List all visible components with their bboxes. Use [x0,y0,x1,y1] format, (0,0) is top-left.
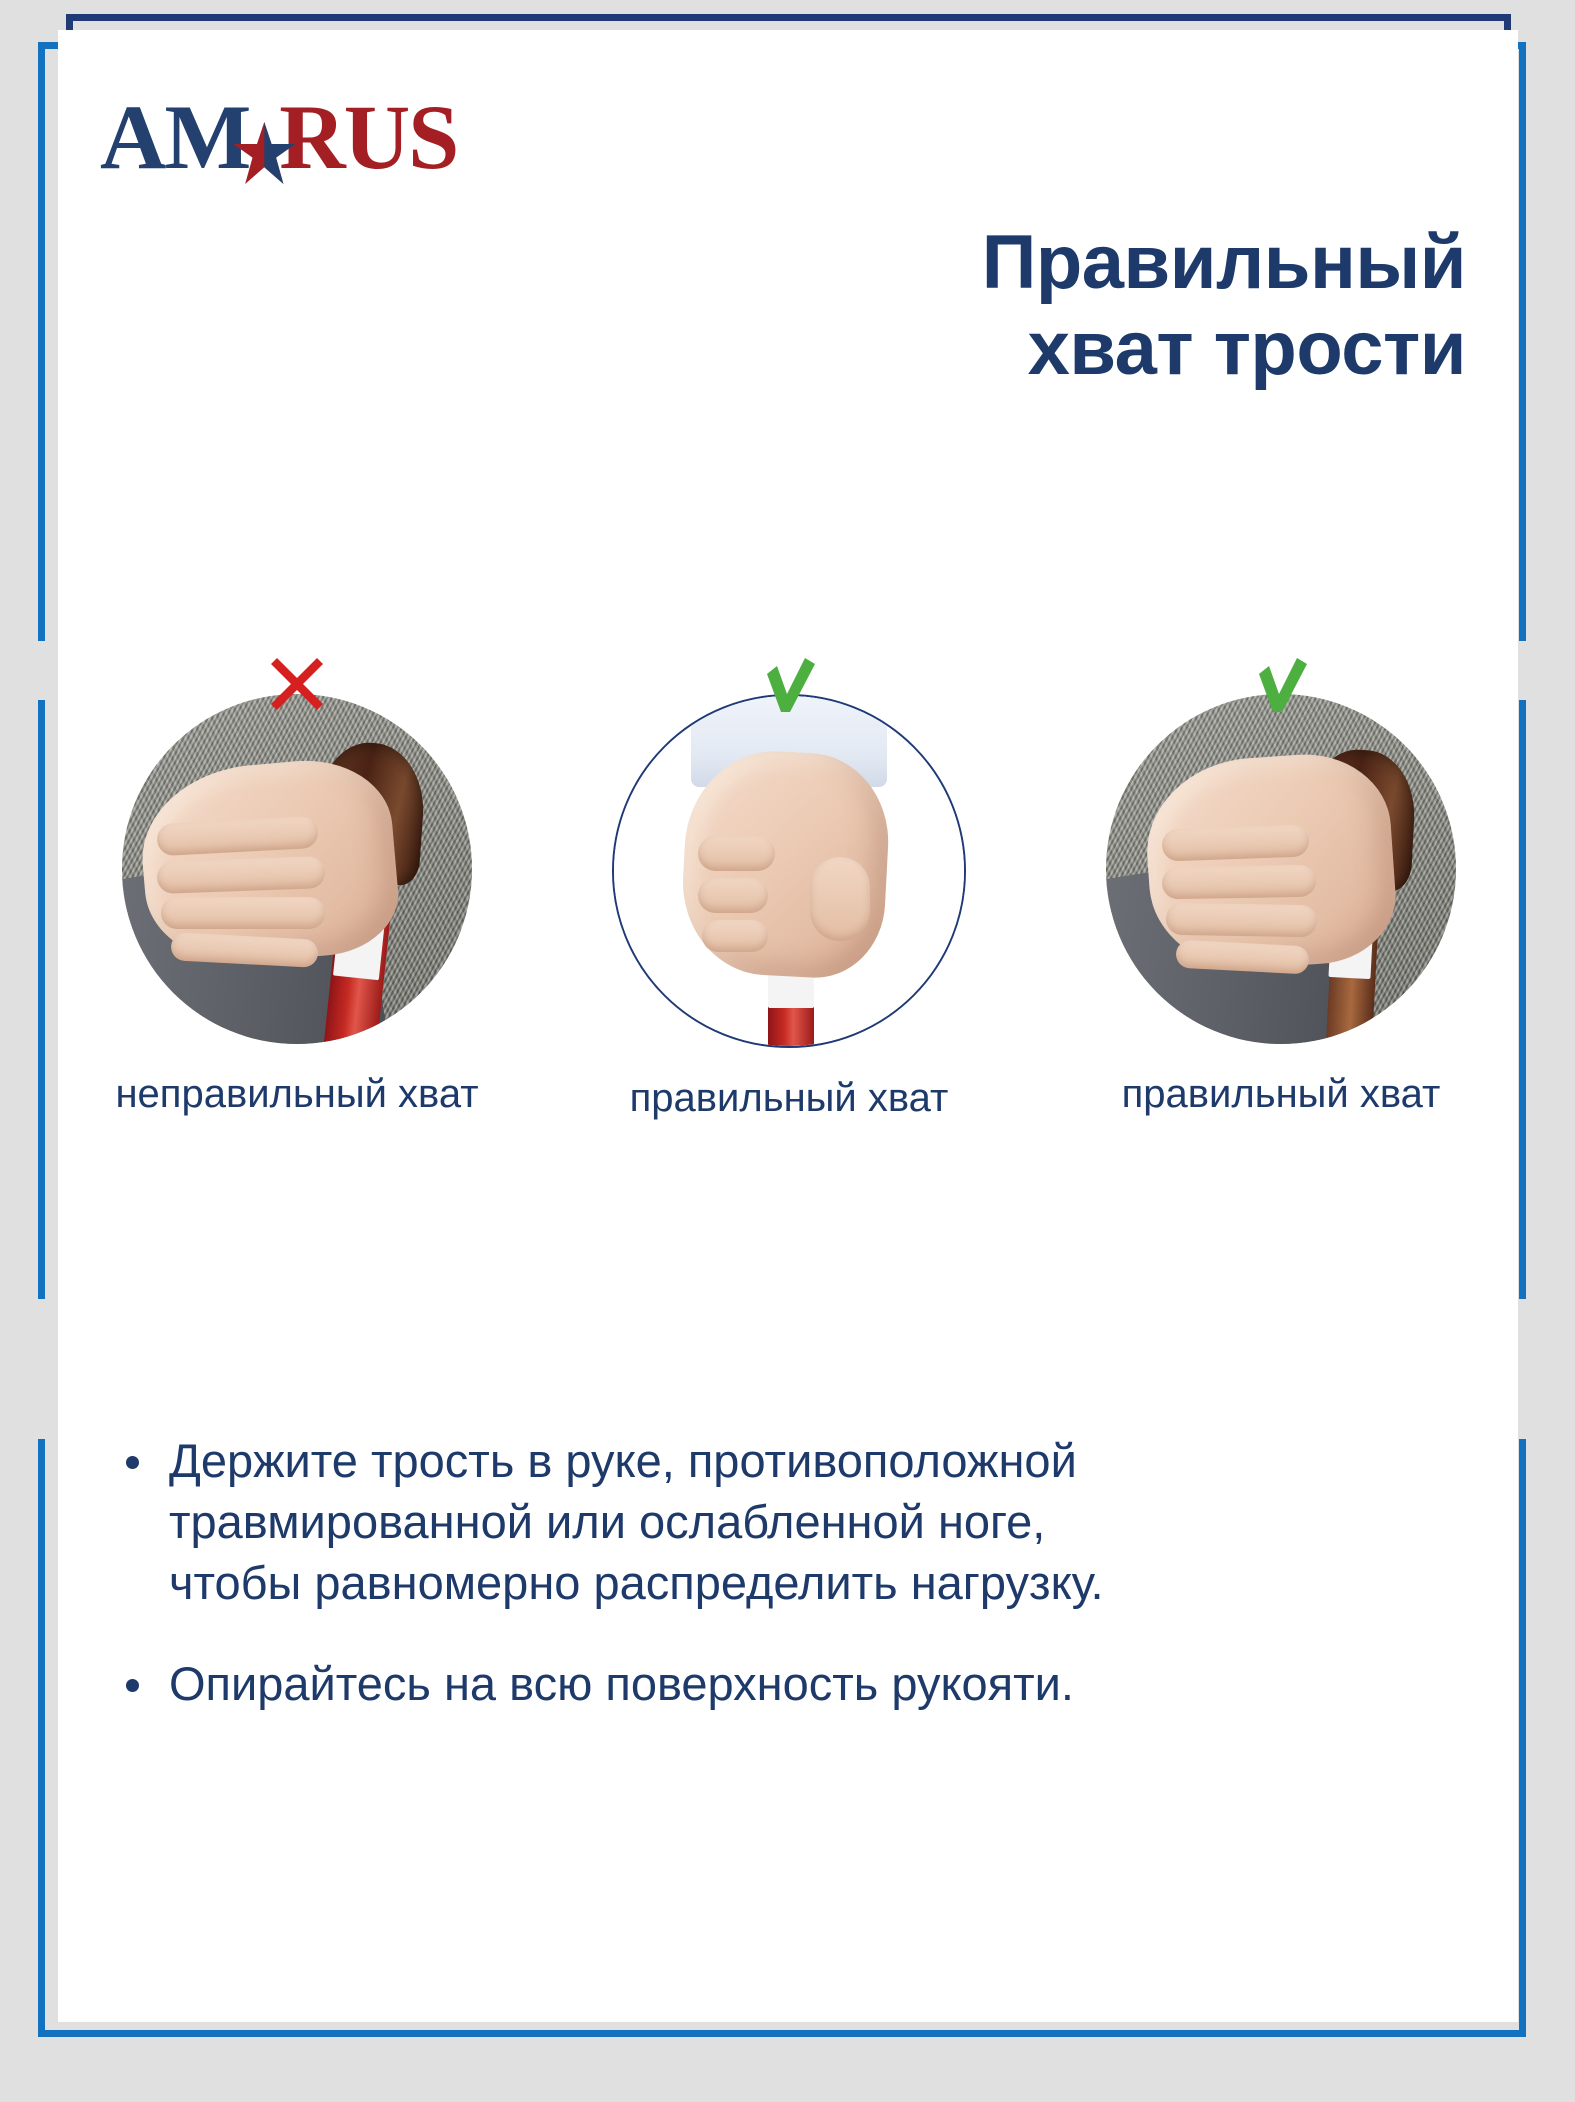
frame-light-left-middle [38,700,45,1299]
grip-example-correct-2: правильный хват [1078,630,1484,1123]
finger [1165,903,1316,937]
page-title-line-1: Правильный [806,220,1466,306]
logo-text-rus: RUS [279,91,457,183]
logo-text-am: AM [100,91,249,183]
caption-wrong-grip: неправильный хват [115,1070,478,1119]
finger [157,856,326,893]
finger [702,920,769,952]
advice-text: Опирайтесь на всю поверхность рукояти. [169,1653,1074,1714]
frame-light-bottom [38,2030,1526,2037]
check-icon [757,630,821,716]
brand-logo: AM RUS [100,82,457,192]
grip-example-correct-1: AMRUS CARE LINE правильный хват [586,630,992,1123]
frame-dark-top [66,14,1511,21]
content-card: AM RUS Правильный хват трости [58,30,1518,2022]
content-area: AM RUS Правильный хват трости [58,30,1518,2022]
grip-examples: неправильный хват [94,630,1484,1123]
page-title-line-2: хват трости [806,306,1466,392]
finger [1161,824,1309,861]
frame-light-right-lower [1519,1439,1526,2038]
list-item: Опирайтесь на всю поверхность рукояти. [120,1653,1460,1714]
bullet-dot-icon [126,1456,139,1469]
frame-light-left-upper [38,42,45,641]
frame-light-right-upper [1519,42,1526,641]
cross-icon [265,630,329,716]
caption-correct-grip-2: правильный хват [1122,1070,1441,1119]
finger [1162,864,1317,898]
poster: AM RUS Правильный хват трости [0,0,1575,2102]
star-icon-blue-half [233,122,295,184]
frame-light-right-middle [1519,700,1526,1299]
list-item: Держите трость в руке, противоположной т… [120,1430,1460,1613]
star-icon [233,122,295,184]
finger [810,857,870,941]
page-title: Правильный хват трости [806,220,1466,392]
advice-text: Держите трость в руке, противоположной т… [169,1430,1179,1613]
bullet-dot-icon [126,1679,139,1692]
frame-light-left-lower [38,1439,45,2038]
finger [161,897,326,929]
photo-correct-grip-1: AMRUS CARE LINE [612,694,966,1048]
check-icon [1249,630,1313,716]
caption-correct-grip-1: правильный хват [630,1074,949,1123]
finger [698,836,775,871]
advice-list: Держите трость в руке, противоположной т… [120,1430,1460,1754]
photo-correct-grip-2 [1106,694,1456,1044]
photo-wrong-grip [122,694,472,1044]
grip-example-wrong: неправильный хват [94,630,500,1123]
finger [698,878,768,913]
